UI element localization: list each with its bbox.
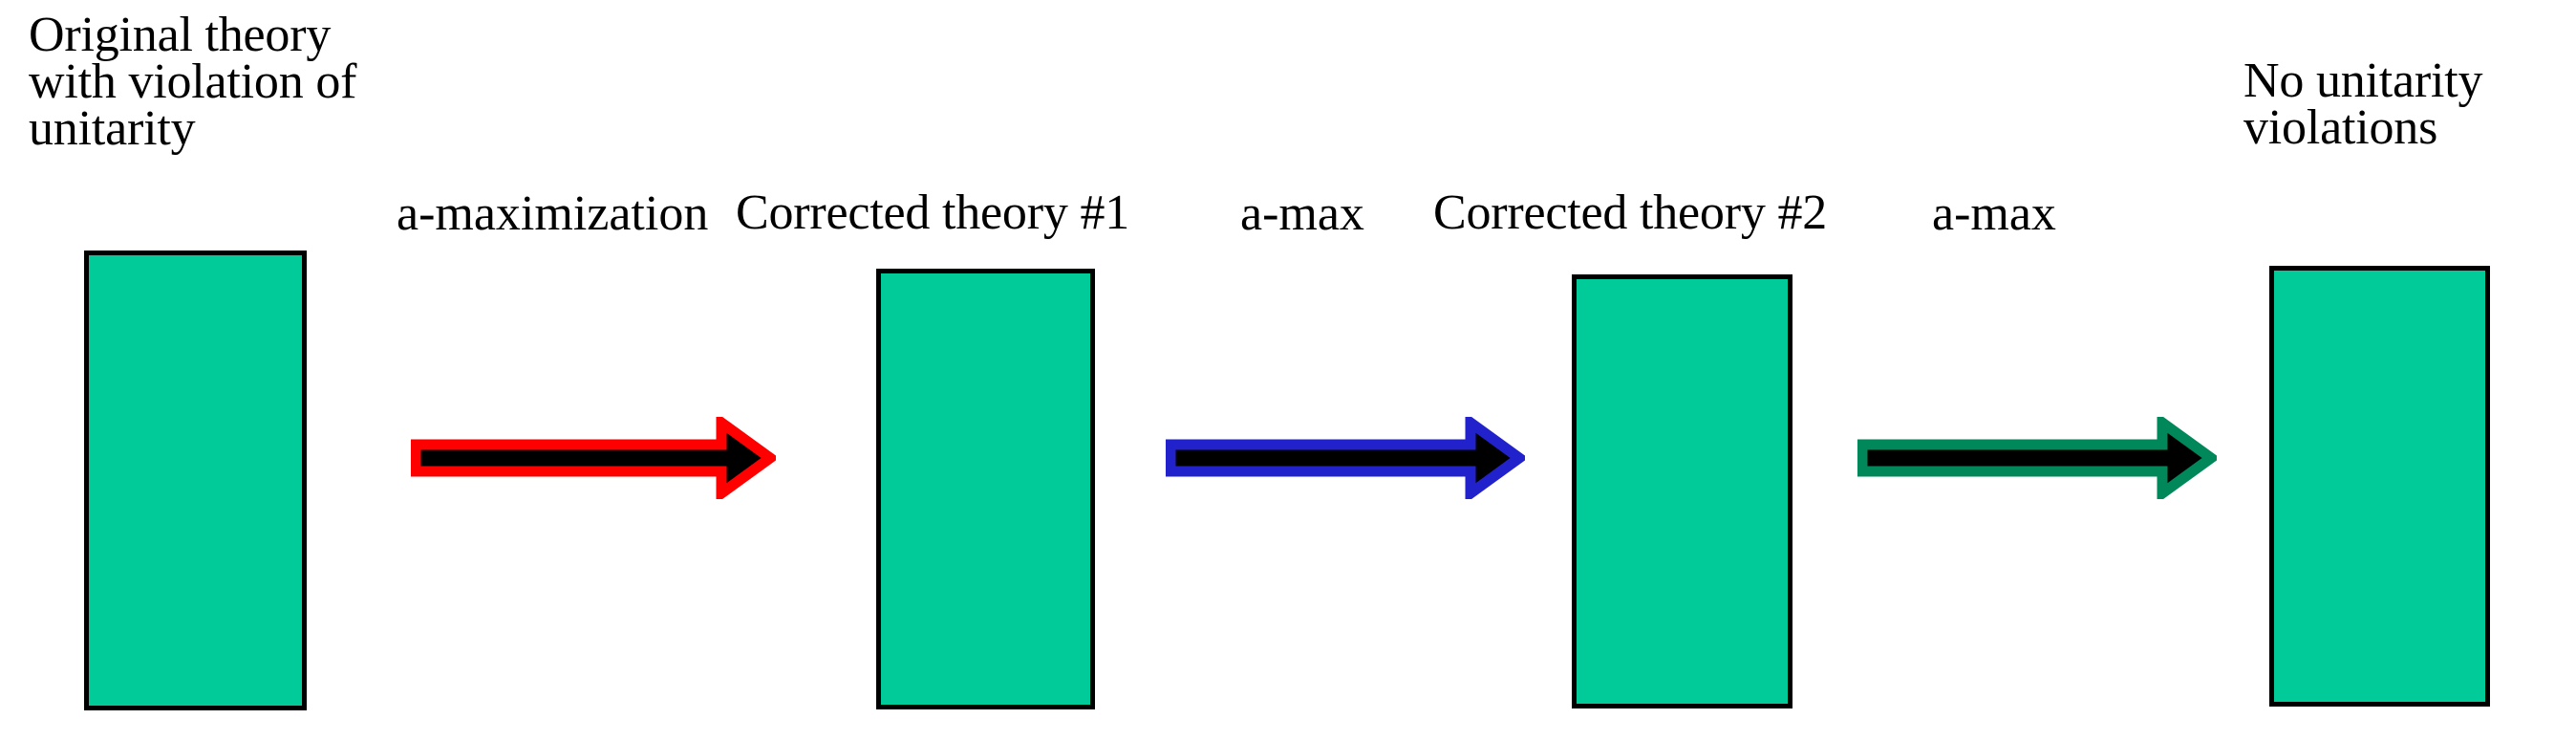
stage3-box [1572, 274, 1792, 708]
stage3-label: Corrected theory #2 [1433, 189, 1827, 236]
stage2-box [876, 269, 1095, 709]
stage4-label: No unitarity violations [2243, 57, 2482, 151]
arrow-2 [1166, 417, 1525, 499]
stage4-box [2269, 266, 2490, 707]
arrow-3-label: a-max [1932, 189, 2056, 239]
stage1-box [84, 251, 307, 710]
arrow-1-label: a-maximization [397, 189, 708, 239]
diagram-canvas: Original theory with violation of unitar… [0, 0, 2576, 741]
arrow-1 [411, 417, 776, 499]
arrow-right-icon [411, 417, 776, 499]
arrow-2-label: a-max [1240, 189, 1364, 239]
stage1-label: Original theory with violation of unitar… [29, 11, 356, 152]
stage2-label: Corrected theory #1 [736, 189, 1129, 236]
arrow-right-icon [1857, 417, 2217, 499]
arrow-3 [1857, 417, 2217, 499]
arrow-right-icon [1166, 417, 1525, 499]
